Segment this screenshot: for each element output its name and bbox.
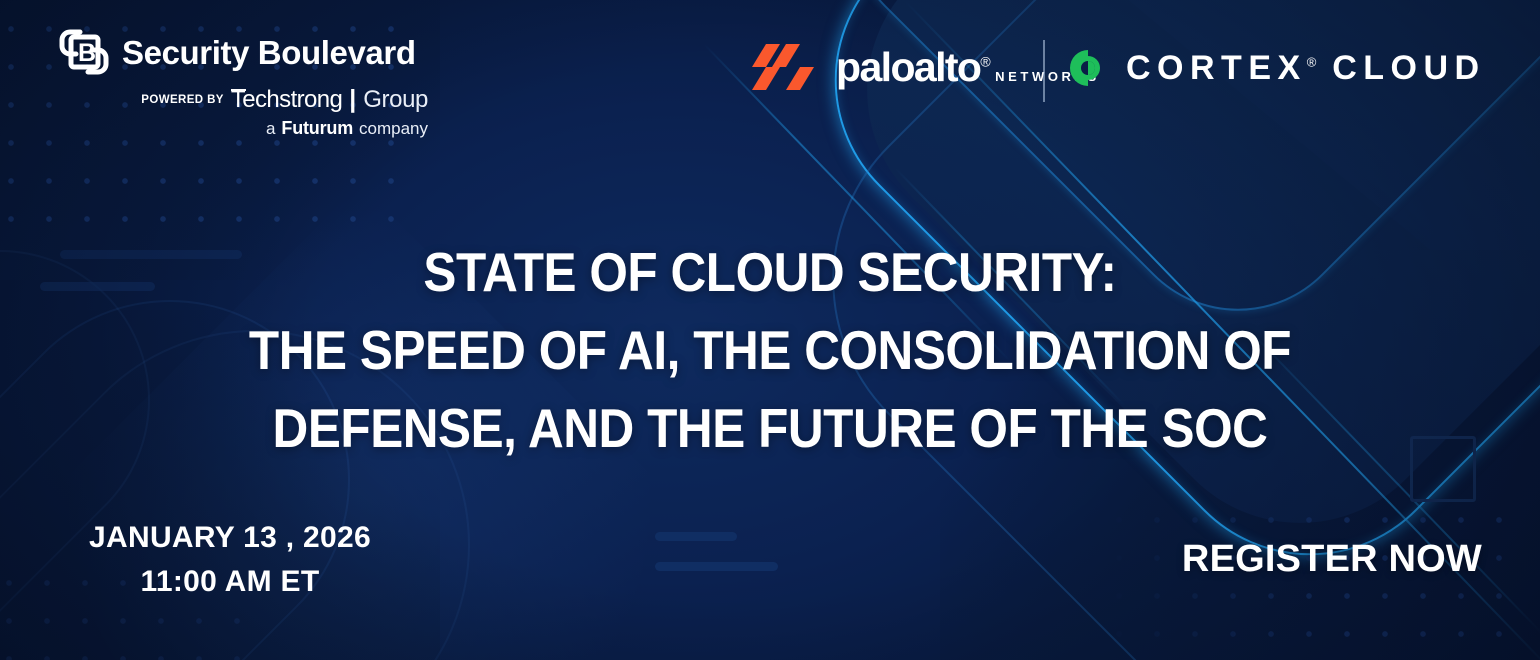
paloalto-wordmark: paloalto® <box>836 44 991 90</box>
register-now-button[interactable]: REGISTER NOW <box>1182 538 1482 581</box>
cloud-word-spacer <box>1316 49 1332 87</box>
techstrong-divider: | <box>349 87 356 112</box>
page-title: STATE OF CLOUD SECURITY: THE SPEED OF AI… <box>77 233 1463 467</box>
cortex-circle-icon <box>1068 48 1108 88</box>
event-datetime: JANUARY 13 , 2026 11:00 AM ET <box>60 516 400 603</box>
techstrong-group-row: POWERED BY Techstrong | Group <box>58 87 430 112</box>
cloud-word: CLOUD <box>1332 49 1485 87</box>
futurum-company-row: a Futurum company <box>58 118 430 139</box>
company-label: company <box>359 119 428 139</box>
cortex-registered-mark: ® <box>1307 55 1317 70</box>
paloalto-chevrons-icon <box>752 44 814 90</box>
logo-divider <box>1043 40 1045 102</box>
paloalto-registered-mark: ® <box>980 53 990 69</box>
sb-monogram-icon: B <box>58 26 110 78</box>
futurum-article: a <box>266 119 275 139</box>
paloalto-text-block: paloalto® NETWORKS <box>836 47 1100 88</box>
event-time: 11:00 AM ET <box>60 560 400 604</box>
banner-content: B Security Boulevard POWERED BY Techstro… <box>0 0 1540 660</box>
palo-alto-networks-logo[interactable]: paloalto® NETWORKS <box>752 44 1100 90</box>
cortex-cloud-logo[interactable]: CORTEX® CLOUD <box>1068 48 1486 88</box>
paloalto-wordmark-text: paloalto <box>836 44 980 90</box>
webinar-promo-banner: B Security Boulevard POWERED BY Techstro… <box>0 0 1540 660</box>
powered-by-label: POWERED BY <box>141 94 224 106</box>
headline-line-1: STATE OF CLOUD SECURITY: <box>77 233 1463 311</box>
security-boulevard-name: Security Boulevard <box>122 36 416 69</box>
cortex-word: CORTEX <box>1126 49 1307 87</box>
headline-line-3: DEFENSE, AND THE FUTURE OF THE SOC <box>77 389 1463 467</box>
security-boulevard-logo[interactable]: B Security Boulevard POWERED BY Techstro… <box>58 26 430 139</box>
event-date: JANUARY 13 , 2026 <box>60 516 400 560</box>
techstrong-wordmark: Techstrong <box>231 88 342 112</box>
svg-text:B: B <box>78 39 96 67</box>
security-boulevard-primary-row: B Security Boulevard <box>58 26 430 78</box>
group-wordmark: Group <box>363 88 428 112</box>
futurum-wordmark: Futurum <box>281 118 353 139</box>
cortex-cloud-wordmark: CORTEX® CLOUD <box>1126 51 1486 85</box>
headline-line-2: THE SPEED OF AI, THE CONSOLIDATION OF <box>77 311 1463 389</box>
